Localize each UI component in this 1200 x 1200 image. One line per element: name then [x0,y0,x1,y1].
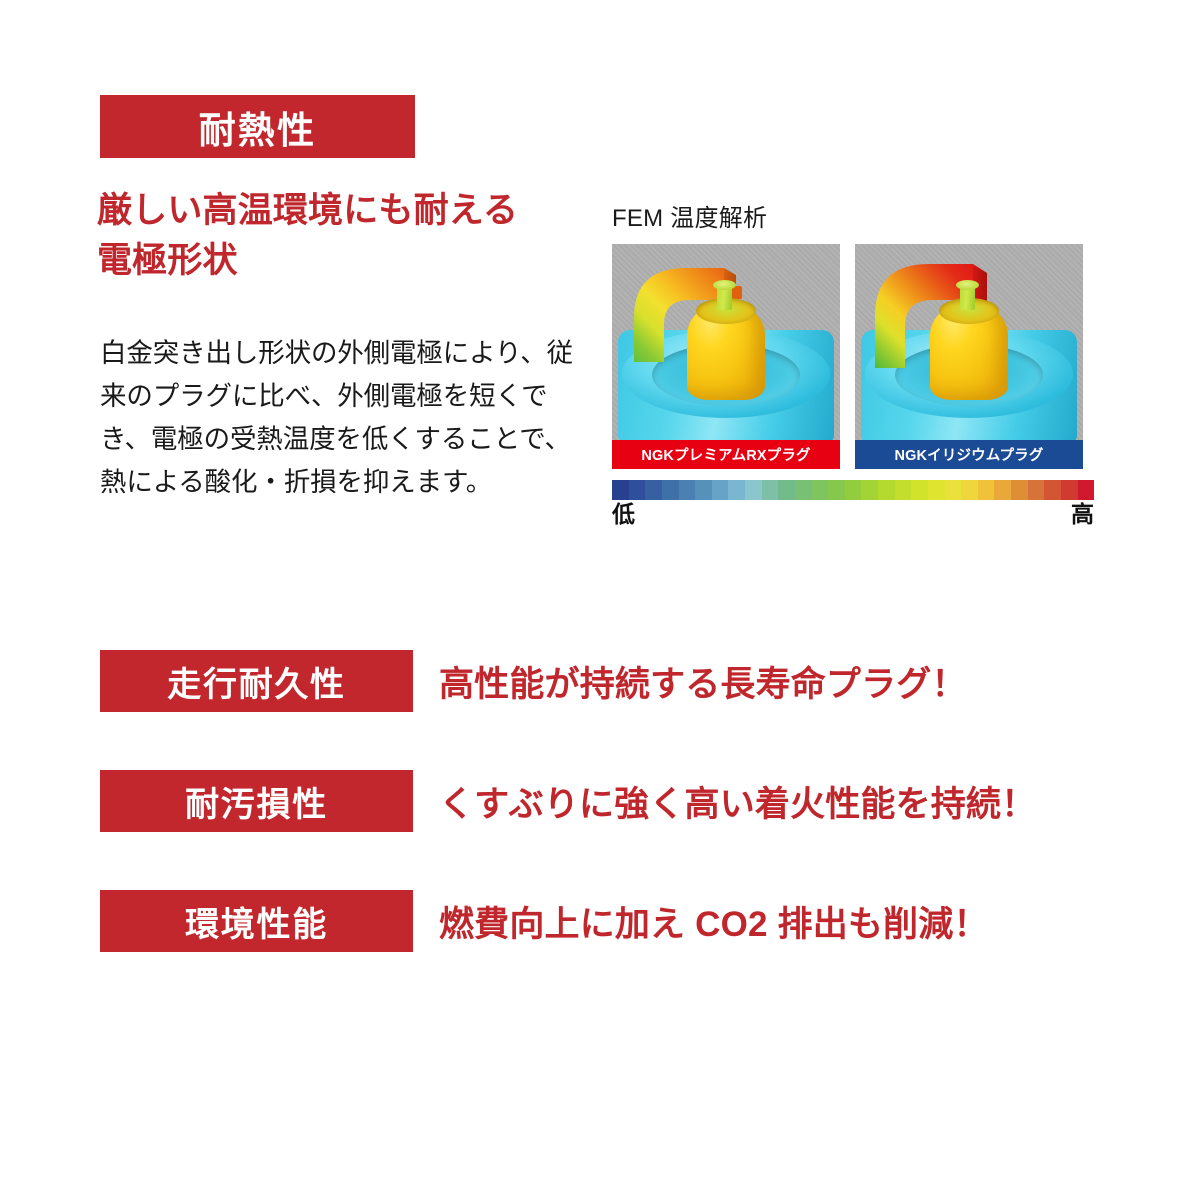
fem-panel-iridium: NGKイリジウムプラグ [855,244,1083,469]
temperature-color-scale: 低 高 [612,480,1094,527]
headline-line-2: 電極形状 [97,236,597,286]
color-scale-bar [612,480,1094,500]
center-electrode-tip [956,280,979,290]
color-scale-swatch-17 [895,480,912,500]
color-scale-swatch-23 [994,480,1011,500]
fem-panel-group: NGKプレミアムRXプラグ [612,244,1094,469]
color-scale-swatch-20 [945,480,962,500]
feature-row: 走行耐久性 高性能が持続する長寿命プラグ！ [100,650,1100,712]
color-scale-swatch-4 [679,480,696,500]
color-scale-swatch-28 [1078,480,1095,500]
color-scale-swatch-21 [961,480,978,500]
color-scale-swatch-14 [845,480,862,500]
color-scale-swatch-6 [712,480,729,500]
color-scale-swatch-26 [1044,480,1061,500]
color-scale-swatch-7 [728,480,745,500]
feature-badge-driving-durability: 走行耐久性 [100,650,413,712]
feature-row: 環境性能 燃費向上に加え CO2 排出も削減！ [100,890,1100,952]
fem-panel-caption-iridium: NGKイリジウムプラグ [855,440,1083,469]
color-scale-swatch-19 [928,480,945,500]
color-scale-swatch-5 [695,480,712,500]
color-scale-swatch-27 [1061,480,1078,500]
color-scale-swatch-1 [629,480,646,500]
fem-thermal-image-iridium [855,244,1083,440]
body-paragraph: 白金突き出し形状の外側電極により、従来のプラグに比べ、外側電極を短くでき、電極の… [100,332,582,504]
color-scale-swatch-25 [1028,480,1045,500]
color-scale-swatch-13 [828,480,845,500]
feature-badge-environmental-performance: 環境性能 [100,890,413,952]
section-badge-label: 耐熱性 [199,100,317,154]
color-scale-swatch-18 [911,480,928,500]
color-scale-swatch-15 [861,480,878,500]
color-scale-swatch-0 [612,480,629,500]
section-badge-heat-resistance: 耐熱性 [100,95,415,158]
color-scale-swatch-10 [778,480,795,500]
fem-thermal-image-premium-rx [612,244,840,440]
fem-panel-caption-premium-rx: NGKプレミアムRXプラグ [612,440,840,469]
center-electrode-tip [713,280,736,290]
fem-panel-premium-rx: NGKプレミアムRXプラグ [612,244,840,469]
feature-row: 耐汚損性 くすぶりに強く高い着火性能を持続！ [100,770,1100,832]
color-scale-swatch-3 [662,480,679,500]
feature-description: 高性能が持続する長寿命プラグ！ [439,656,967,707]
color-scale-swatch-11 [795,480,812,500]
fem-analysis-block: FEM 温度解析 [612,198,1094,527]
color-scale-swatch-8 [745,480,762,500]
fem-analysis-title: FEM 温度解析 [612,198,1094,233]
headline-line-1: 厳しい高温環境にも耐える [97,186,597,236]
feature-description: 燃費向上に加え CO2 排出も削減！ [439,896,989,947]
scale-label-high: 高 [1071,502,1094,527]
feature-description: くすぶりに強く高い着火性能を持続！ [439,776,1036,827]
feature-badge-fouling-resistance: 耐汚損性 [100,770,413,832]
color-scale-swatch-9 [762,480,779,500]
color-scale-swatch-24 [1011,480,1028,500]
color-scale-labels: 低 高 [612,502,1094,527]
color-scale-swatch-2 [645,480,662,500]
scale-label-low: 低 [612,502,635,527]
page-title: 厳しい高温環境にも耐える 電極形状 [97,186,597,285]
color-scale-swatch-12 [812,480,829,500]
color-scale-swatch-16 [878,480,895,500]
color-scale-swatch-22 [978,480,995,500]
